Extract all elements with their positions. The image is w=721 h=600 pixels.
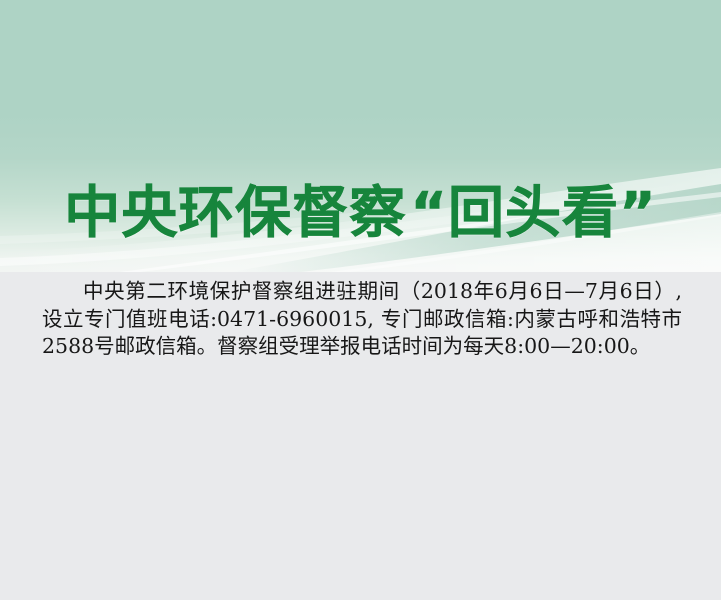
poster-title-main: 中央环保督察 — [64, 186, 406, 242]
poster-title-quoted: “回头看” — [410, 186, 657, 242]
poster-title: 中央环保督察“回头看” — [0, 186, 721, 242]
poster-root: 中央环保督察“回头看” 中央第二环境保护督察组进驻期间（2018年6月6日—7月… — [0, 0, 721, 600]
announcement-paragraph: 中央第二环境保护督察组进驻期间（2018年6月6日—7月6日）,设立专门值班电话… — [42, 278, 682, 361]
banner-background: 中央环保督察“回头看” — [0, 0, 721, 272]
announcement-body: 中央第二环境保护督察组进驻期间（2018年6月6日—7月6日）,设立专门值班电话… — [42, 278, 682, 361]
